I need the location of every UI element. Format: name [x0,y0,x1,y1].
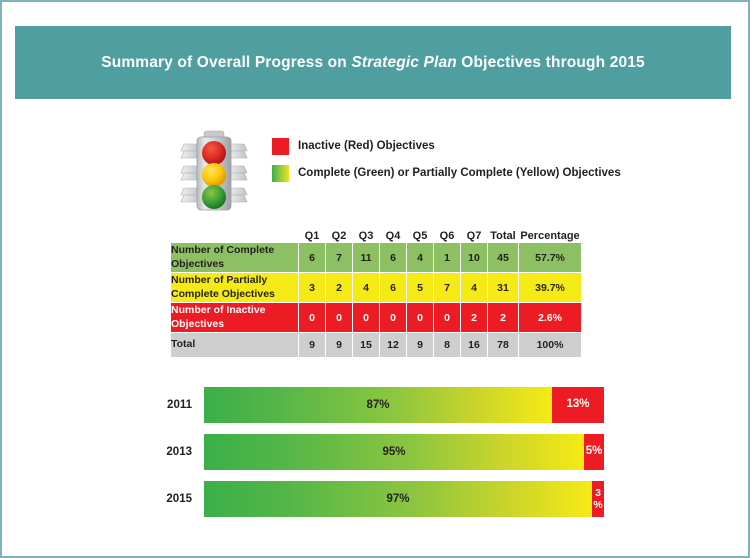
header-band: Summary of Overall Progress on Strategic… [15,26,731,99]
row-label-inactive: Number of Inactive Objectives [171,303,298,332]
column-header-q5: Q5 [407,225,433,242]
cell-total-q6: 8 [434,333,460,357]
legend-item-label: Complete (Green) or Partially Complete (… [298,167,621,179]
cell-total-percentage: 100% [519,333,581,357]
cell-inactive-q5: 0 [407,303,433,332]
bar-segment-label: 3% [593,487,602,511]
cell-complete-total: 45 [488,243,518,272]
page-title-part2: Objectives through 2015 [457,54,645,71]
column-header-blank [171,225,298,242]
cell-total-q7: 16 [461,333,487,357]
cell-inactive-q6: 0 [434,303,460,332]
column-header-q1: Q1 [299,225,325,242]
cell-complete-q7: 10 [461,243,487,272]
column-header-q3: Q3 [353,225,379,242]
legend-region: Inactive (Red) Objectives Complete (Gree… [178,128,598,214]
bar-year-label: 2011 [152,399,192,411]
bar-year-label: 2013 [152,446,192,458]
bar-track: 97% 3% [204,481,604,517]
page-title-italic: Strategic Plan [351,54,456,71]
row-label-partially-complete: Number of Partially Complete Objectives [171,273,298,302]
cell-complete-q3: 11 [353,243,379,272]
legend-item-inactive: Inactive (Red) Objectives [272,137,621,155]
cell-partial-q2: 2 [326,273,352,302]
cell-partial-q3: 4 [353,273,379,302]
cell-complete-q4: 6 [380,243,406,272]
bar-segment-label: 5% [586,446,603,458]
cell-partial-percentage: 39.7% [519,273,581,302]
green-yellow-gradient-swatch-icon [272,165,289,182]
table-row: Number of Inactive Objectives 0 0 0 0 0 … [171,303,581,332]
cell-inactive-q1: 0 [299,303,325,332]
column-header-q4: Q4 [380,225,406,242]
cell-total-q1: 9 [299,333,325,357]
bar-row-2013: 2013 95% 5% [152,434,602,470]
column-header-q7: Q7 [461,225,487,242]
cell-total-q3: 15 [353,333,379,357]
cell-inactive-q2: 0 [326,303,352,332]
bar-segment-label: 13% [566,399,589,411]
bar-track: 87% 13% [204,387,604,423]
table-header-row: Q1 Q2 Q3 Q4 Q5 Q6 Q7 Total Percentage [171,225,581,242]
cell-total-q2: 9 [326,333,352,357]
summary-table-wrap: Q1 Q2 Q3 Q4 Q5 Q6 Q7 Total Percentage Nu… [170,224,582,358]
cell-complete-q6: 1 [434,243,460,272]
column-header-total: Total [488,225,518,242]
cell-total-q4: 12 [380,333,406,357]
row-label-complete: Number of Complete Objectives [171,243,298,272]
cell-total-total: 78 [488,333,518,357]
row-label-total: Total [171,333,298,357]
cell-partial-q1: 3 [299,273,325,302]
bar-segment-inactive: 5% [584,434,604,470]
cell-partial-q4: 6 [380,273,406,302]
cell-complete-q5: 4 [407,243,433,272]
legend-item-complete: Complete (Green) or Partially Complete (… [272,164,621,182]
bar-segment-label: 95% [382,446,405,458]
legend-list: Inactive (Red) Objectives Complete (Gree… [272,137,621,191]
cell-inactive-q7: 2 [461,303,487,332]
bar-segment-inactive: 3% [592,481,604,517]
bar-segment-inactive: 13% [552,387,604,423]
bar-year-label: 2015 [152,493,192,505]
cell-total-q5: 9 [407,333,433,357]
cell-partial-q5: 5 [407,273,433,302]
page-title-part1: Summary of Overall Progress on [101,54,351,71]
column-header-q6: Q6 [434,225,460,242]
red-swatch-icon [272,138,289,155]
summary-table: Q1 Q2 Q3 Q4 Q5 Q6 Q7 Total Percentage Nu… [170,224,582,358]
cell-complete-q1: 6 [299,243,325,272]
column-header-q2: Q2 [326,225,352,242]
table-row: Number of Partially Complete Objectives … [171,273,581,302]
cell-complete-q2: 7 [326,243,352,272]
bar-track: 95% 5% [204,434,604,470]
bar-row-2015: 2015 97% 3% [152,481,602,517]
cell-inactive-q3: 0 [353,303,379,332]
cell-inactive-total: 2 [488,303,518,332]
legend-item-label: Inactive (Red) Objectives [298,140,435,152]
traffic-light-icon [178,128,250,214]
column-header-percentage: Percentage [519,225,581,242]
table-row: Total 9 9 15 12 9 8 16 78 100% [171,333,581,357]
cell-partial-q6: 7 [434,273,460,302]
bar-segment-complete: 97% [204,481,592,517]
progress-bar-chart: 2011 87% 13% 2013 95% 5% 2 [152,387,602,527]
page-title: Summary of Overall Progress on Strategic… [101,54,645,72]
cell-complete-percentage: 57.7% [519,243,581,272]
cell-partial-q7: 4 [461,273,487,302]
cell-partial-total: 31 [488,273,518,302]
table-header: Q1 Q2 Q3 Q4 Q5 Q6 Q7 Total Percentage [171,225,581,242]
bar-segment-label: 87% [366,399,389,411]
table-row: Number of Complete Objectives 6 7 11 6 4… [171,243,581,272]
bar-segment-complete: 87% [204,387,552,423]
bar-segment-label: 97% [386,493,409,505]
table-body: Number of Complete Objectives 6 7 11 6 4… [171,243,581,357]
cell-inactive-q4: 0 [380,303,406,332]
bar-segment-complete: 95% [204,434,584,470]
cell-inactive-percentage: 2.6% [519,303,581,332]
bar-row-2011: 2011 87% 13% [152,387,602,423]
poster-page: Summary of Overall Progress on Strategic… [0,0,750,558]
